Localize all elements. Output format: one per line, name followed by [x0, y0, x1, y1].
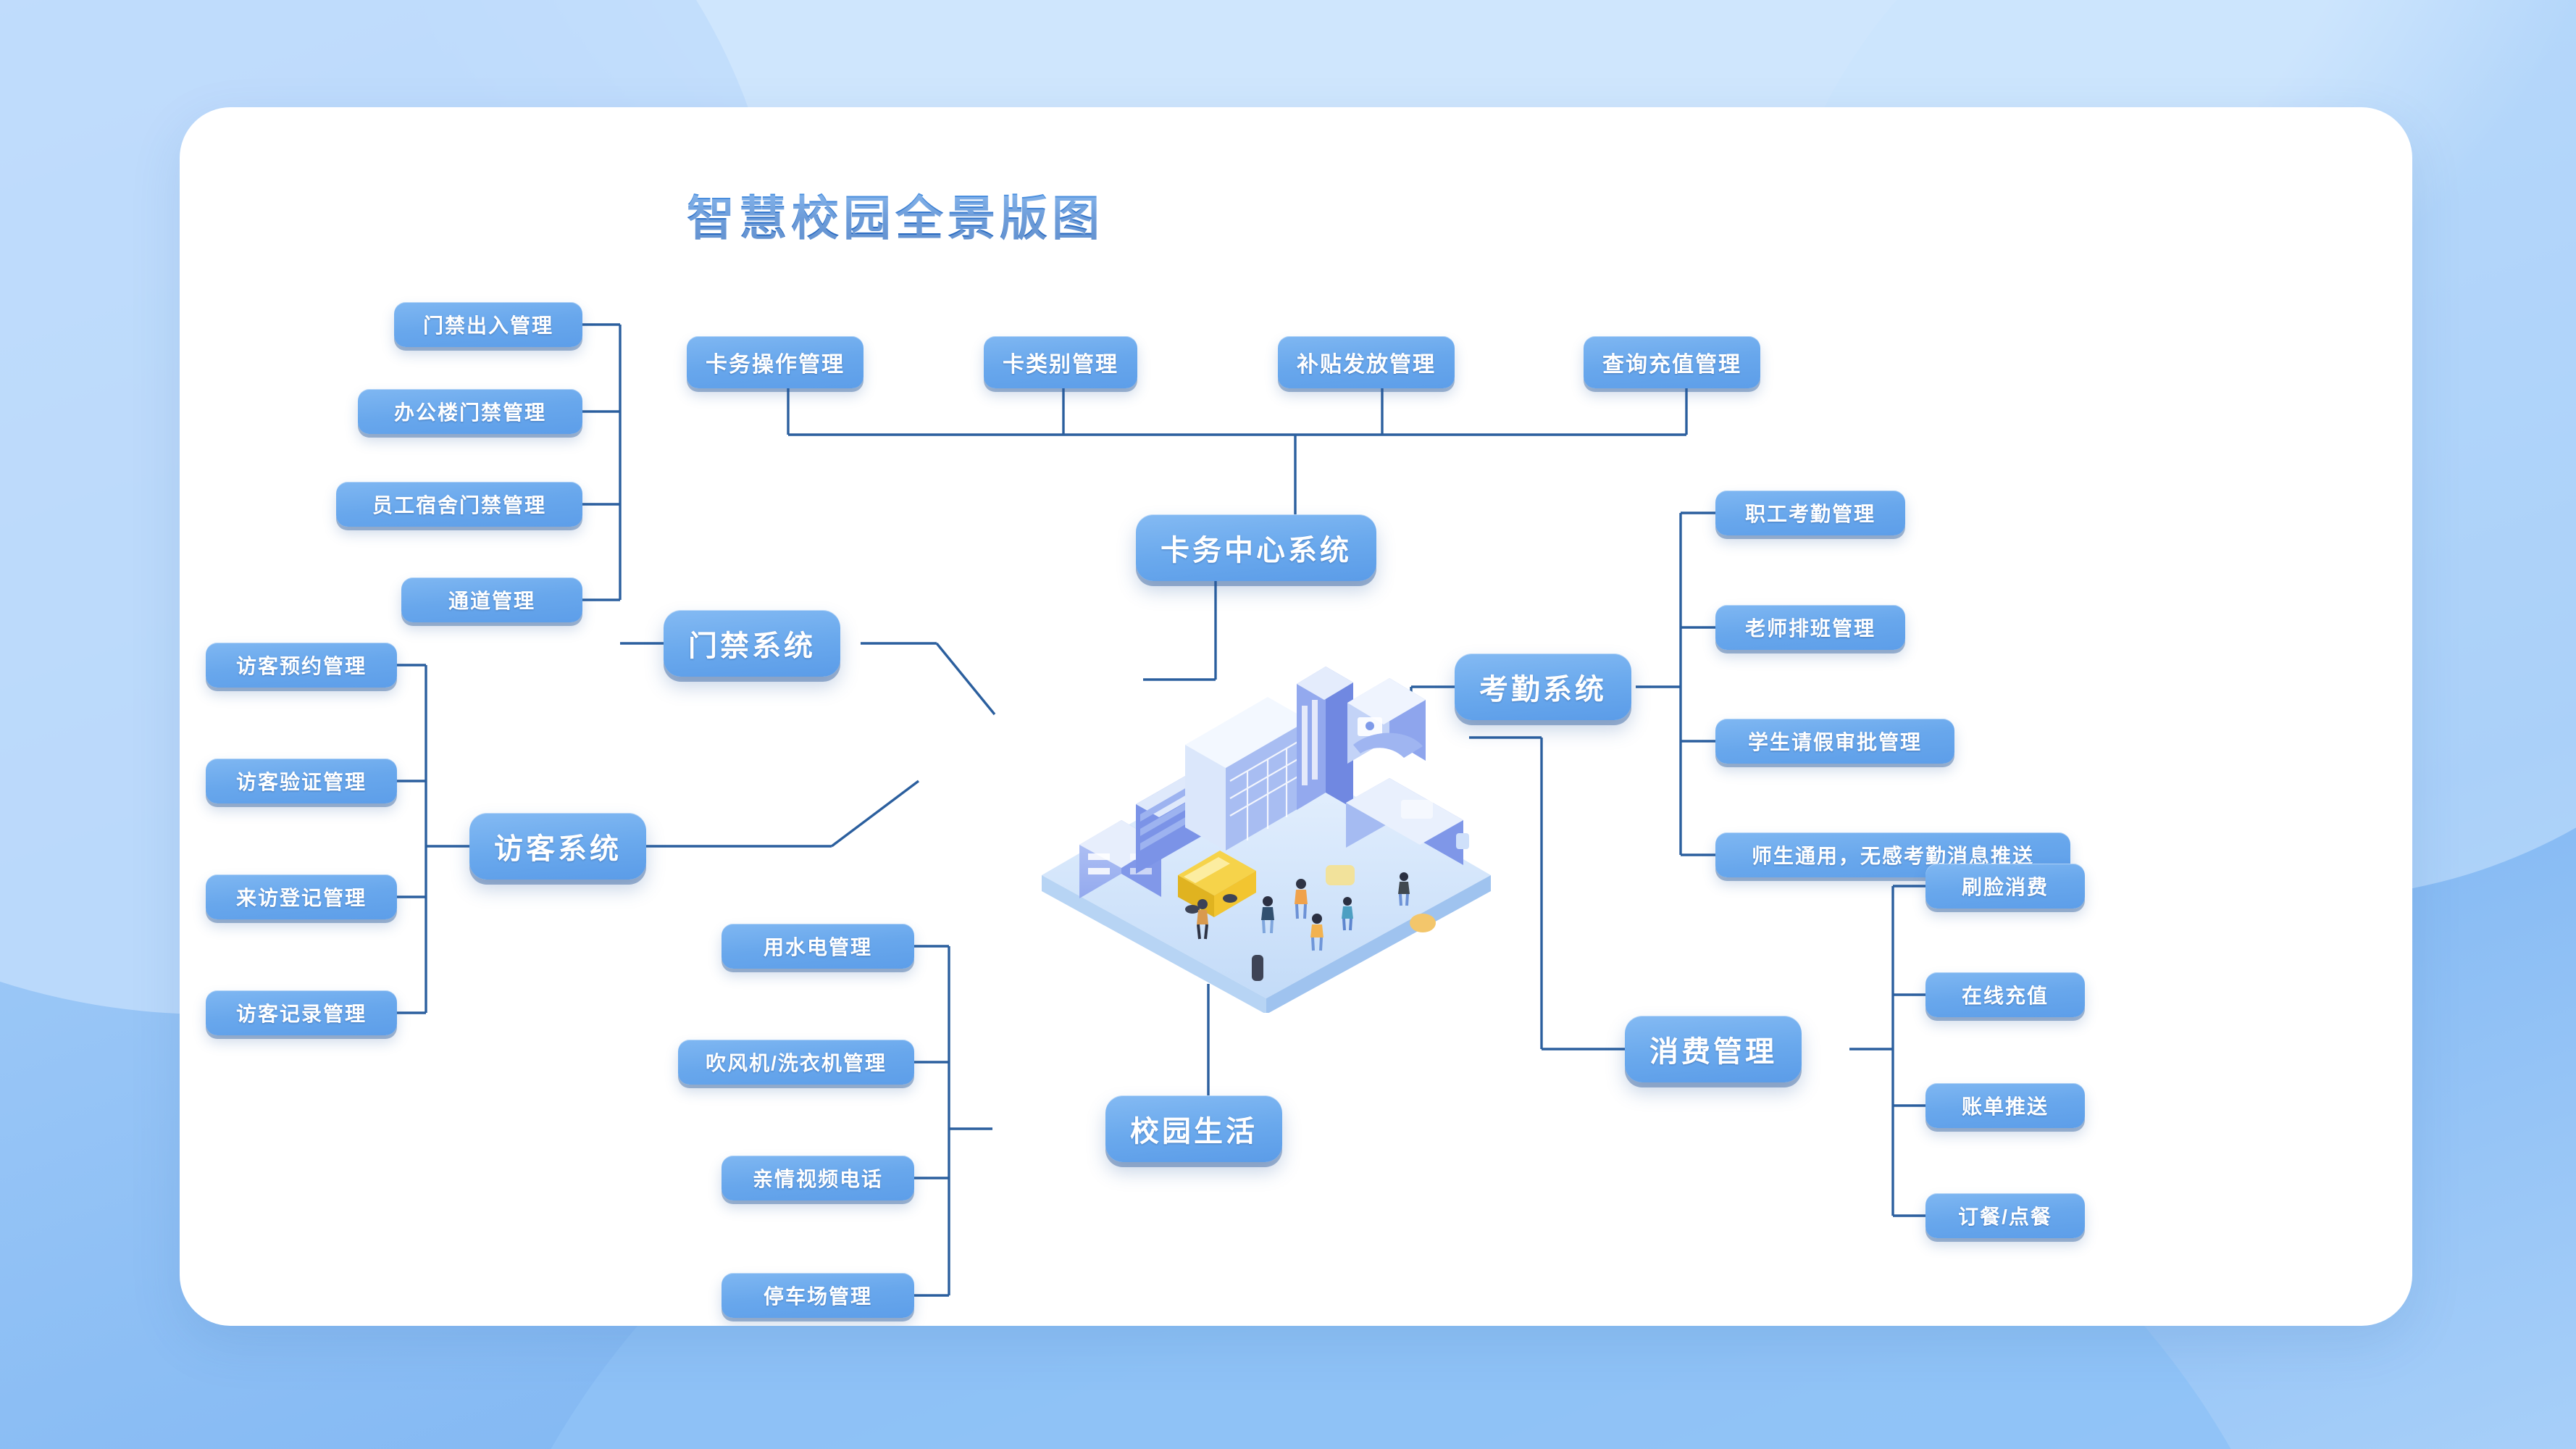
node-card-top-1[interactable]: 卡类别管理 [984, 336, 1137, 388]
node-label: 职工考勤管理 [1745, 498, 1875, 527]
node-label: 卡类别管理 [1003, 346, 1118, 378]
node-card-top-2[interactable]: 补贴发放管理 [1278, 336, 1455, 388]
node-label: 通道管理 [448, 585, 535, 614]
node-label: 校园生活 [1130, 1108, 1258, 1150]
node-consumption-hub[interactable]: 消费管理 [1625, 1016, 1802, 1082]
node-access-system-hub[interactable]: 门禁系统 [664, 610, 840, 677]
node-label: 补贴发放管理 [1297, 346, 1436, 378]
node-label: 用水电管理 [764, 932, 872, 961]
node-label: 亲情视频电话 [753, 1164, 883, 1193]
node-label: 员工宿舍门禁管理 [372, 490, 546, 519]
node-card-center-hub[interactable]: 卡务中心系统 [1136, 514, 1376, 581]
node-label: 老师排班管理 [1745, 613, 1875, 642]
node-label: 考勤系统 [1479, 666, 1607, 708]
node-label: 消费管理 [1649, 1028, 1777, 1070]
node-visitor-item-2[interactable]: 来访登记管理 [206, 874, 397, 919]
node-consumption-item-1[interactable]: 在线充值 [1925, 972, 2085, 1017]
node-label: 办公楼门禁管理 [394, 397, 546, 426]
node-card-top-0[interactable]: 卡务操作管理 [687, 336, 863, 388]
node-campus-life-item-0[interactable]: 用水电管理 [722, 924, 914, 969]
node-label: 门禁出入管理 [423, 310, 553, 339]
node-access-item-3[interactable]: 通道管理 [401, 577, 582, 622]
node-campus-life-item-1[interactable]: 吹风机/洗衣机管理 [678, 1040, 914, 1085]
node-access-item-2[interactable]: 员工宿舍门禁管理 [336, 482, 582, 527]
node-access-item-1[interactable]: 办公楼门禁管理 [358, 389, 582, 434]
node-visitor-item-1[interactable]: 访客验证管理 [206, 759, 397, 803]
node-campus-life-hub[interactable]: 校园生活 [1105, 1095, 1282, 1162]
node-access-item-0[interactable]: 门禁出入管理 [394, 302, 582, 347]
node-label: 吹风机/洗衣机管理 [706, 1048, 887, 1077]
node-label: 门禁系统 [688, 622, 816, 664]
node-label: 卡务操作管理 [706, 346, 845, 378]
node-label: 访客系统 [494, 825, 622, 867]
isometric-campus-illustration [1013, 636, 1520, 1013]
page-title: 智慧校园全景版图 [687, 180, 1104, 249]
node-label: 账单推送 [1962, 1091, 2049, 1120]
node-attendance-item-0[interactable]: 职工考勤管理 [1715, 490, 1905, 535]
node-label: 查询充值管理 [1602, 346, 1741, 378]
node-visitor-system-hub[interactable]: 访客系统 [469, 813, 646, 880]
node-label: 访客记录管理 [236, 998, 367, 1027]
node-label: 访客预约管理 [236, 651, 367, 680]
node-consumption-item-2[interactable]: 账单推送 [1925, 1083, 2085, 1128]
node-label: 卡务中心系统 [1161, 527, 1352, 569]
node-campus-life-item-2[interactable]: 亲情视频电话 [722, 1156, 914, 1200]
node-consumption-item-3[interactable]: 订餐/点餐 [1925, 1193, 2085, 1238]
diagram-card: 智慧校园全景版图 [180, 107, 2412, 1326]
node-attendance-system-hub[interactable]: 考勤系统 [1455, 653, 1631, 720]
node-consumption-item-0[interactable]: 刷脸消费 [1925, 864, 2085, 909]
node-label: 来访登记管理 [236, 882, 367, 911]
node-label: 刷脸消费 [1962, 872, 2049, 901]
diagram-stage: 智慧校园全景版图 [0, 0, 2576, 1449]
node-label: 订餐/点餐 [1958, 1201, 2052, 1230]
connector-wires [180, 107, 2412, 1326]
node-visitor-item-0[interactable]: 访客预约管理 [206, 643, 397, 688]
node-label: 在线充值 [1962, 980, 2049, 1009]
node-label: 访客验证管理 [236, 767, 367, 796]
node-label: 学生请假审批管理 [1748, 727, 1922, 756]
node-attendance-item-2[interactable]: 学生请假审批管理 [1715, 719, 1954, 764]
node-campus-life-item-3[interactable]: 停车场管理 [722, 1273, 914, 1318]
node-card-top-3[interactable]: 查询充值管理 [1584, 336, 1760, 388]
node-attendance-item-1[interactable]: 老师排班管理 [1715, 605, 1905, 650]
node-visitor-item-3[interactable]: 访客记录管理 [206, 990, 397, 1035]
node-label: 停车场管理 [764, 1281, 872, 1310]
